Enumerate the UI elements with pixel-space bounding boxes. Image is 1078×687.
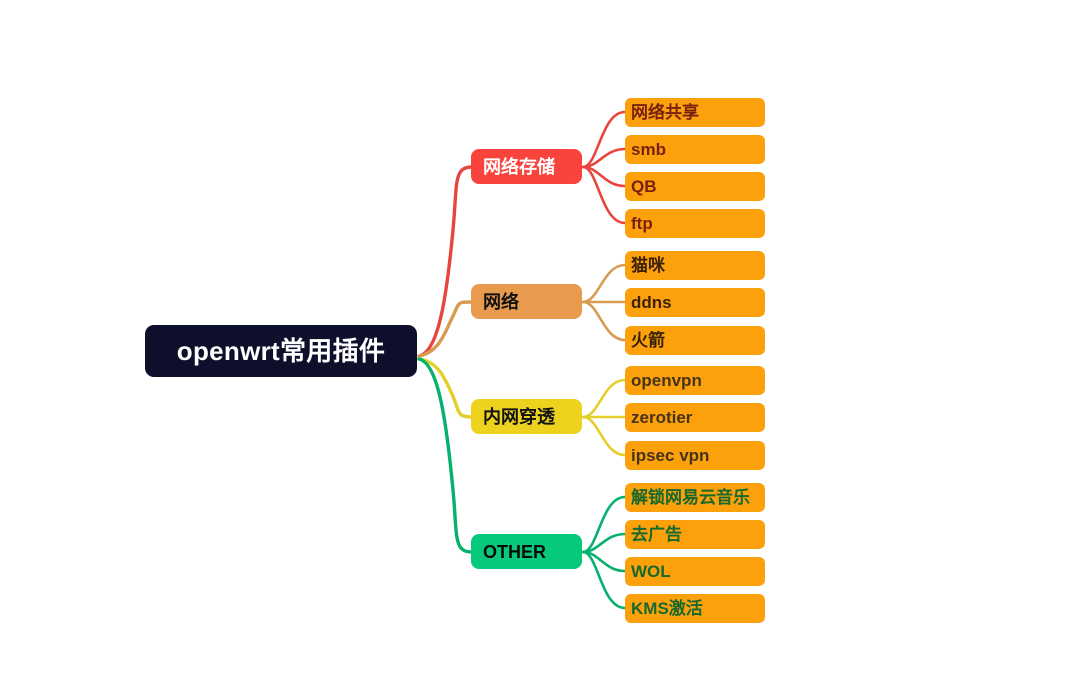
leaf-node-huojian[interactable]: 火箭 xyxy=(625,326,765,355)
leaf-node-kms-activation[interactable]: KMS激活 xyxy=(625,594,765,623)
leaf-node-openvpn-label: openvpn xyxy=(631,372,702,389)
connector-network-storage-to-leaf-4 xyxy=(583,167,625,223)
leaf-node-network-share[interactable]: 网络共享 xyxy=(625,98,765,127)
leaf-node-zerotier-label: zerotier xyxy=(631,409,692,426)
leaf-node-zerotier[interactable]: zerotier xyxy=(625,403,765,432)
connector-root-to-intranet-penetration xyxy=(419,359,472,417)
branch-node-network-storage[interactable]: 网络存储 xyxy=(471,149,582,184)
leaf-node-network-share-label: 网络共享 xyxy=(631,104,699,121)
branch-node-intranet-penetration-label: 内网穿透 xyxy=(483,408,555,426)
connector-root-to-other xyxy=(419,359,472,552)
connector-network-to-leaf-1 xyxy=(583,265,625,302)
branch-node-network-label: 网络 xyxy=(483,293,519,311)
leaf-node-unlock-netease-music[interactable]: 解锁网易云音乐 xyxy=(625,483,765,512)
leaf-node-smb[interactable]: smb xyxy=(625,135,765,164)
root-node-label: openwrt常用插件 xyxy=(177,338,385,364)
leaf-node-maomi[interactable]: 猫咪 xyxy=(625,251,765,280)
connector-other-to-leaf-4 xyxy=(583,552,625,608)
connector-intranet-penetration-to-leaf-1 xyxy=(583,380,625,417)
leaf-node-unlock-netease-music-label: 解锁网易云音乐 xyxy=(631,489,750,506)
branch-node-network-storage-label: 网络存储 xyxy=(483,158,555,176)
leaf-node-remove-ads-label: 去广告 xyxy=(631,526,682,543)
leaf-node-qb[interactable]: QB xyxy=(625,172,765,201)
branch-node-other[interactable]: OTHER xyxy=(471,534,582,569)
leaf-node-ipsec-vpn[interactable]: ipsec vpn xyxy=(625,441,765,470)
connector-network-storage-to-leaf-1 xyxy=(583,112,625,167)
leaf-node-ipsec-vpn-label: ipsec vpn xyxy=(631,447,709,464)
connector-other-to-leaf-2 xyxy=(583,534,625,552)
branch-node-other-label: OTHER xyxy=(483,543,546,561)
leaf-node-qb-label: QB xyxy=(631,178,657,195)
branch-node-intranet-penetration[interactable]: 内网穿透 xyxy=(471,399,582,434)
connector-root-to-network xyxy=(419,302,472,356)
connector-other-to-leaf-3 xyxy=(583,552,625,571)
leaf-node-ddns[interactable]: ddns xyxy=(625,288,765,317)
connector-network-storage-to-leaf-3 xyxy=(583,167,625,186)
connector-network-storage-to-leaf-2 xyxy=(583,149,625,167)
branch-node-network[interactable]: 网络 xyxy=(471,284,582,319)
leaf-node-ftp-label: ftp xyxy=(631,215,653,232)
leaf-node-openvpn[interactable]: openvpn xyxy=(625,366,765,395)
leaf-node-kms-activation-label: KMS激活 xyxy=(631,600,703,617)
root-node[interactable]: openwrt常用插件 xyxy=(145,325,417,377)
leaf-node-wol[interactable]: WOL xyxy=(625,557,765,586)
leaf-node-smb-label: smb xyxy=(631,141,666,158)
mindmap-canvas: openwrt常用插件 网络存储 网络共享 smb QB ftp 网络 猫咪 d… xyxy=(0,0,1078,687)
leaf-node-ddns-label: ddns xyxy=(631,294,672,311)
leaf-node-huojian-label: 火箭 xyxy=(631,332,665,349)
leaf-node-remove-ads[interactable]: 去广告 xyxy=(625,520,765,549)
connector-intranet-penetration-to-leaf-3 xyxy=(583,417,625,455)
connector-root-to-network-storage xyxy=(419,167,472,356)
connector-network-to-leaf-3 xyxy=(583,302,625,340)
leaf-node-maomi-label: 猫咪 xyxy=(631,257,665,274)
connector-other-to-leaf-1 xyxy=(583,497,625,552)
leaf-node-wol-label: WOL xyxy=(631,563,671,580)
leaf-node-ftp[interactable]: ftp xyxy=(625,209,765,238)
